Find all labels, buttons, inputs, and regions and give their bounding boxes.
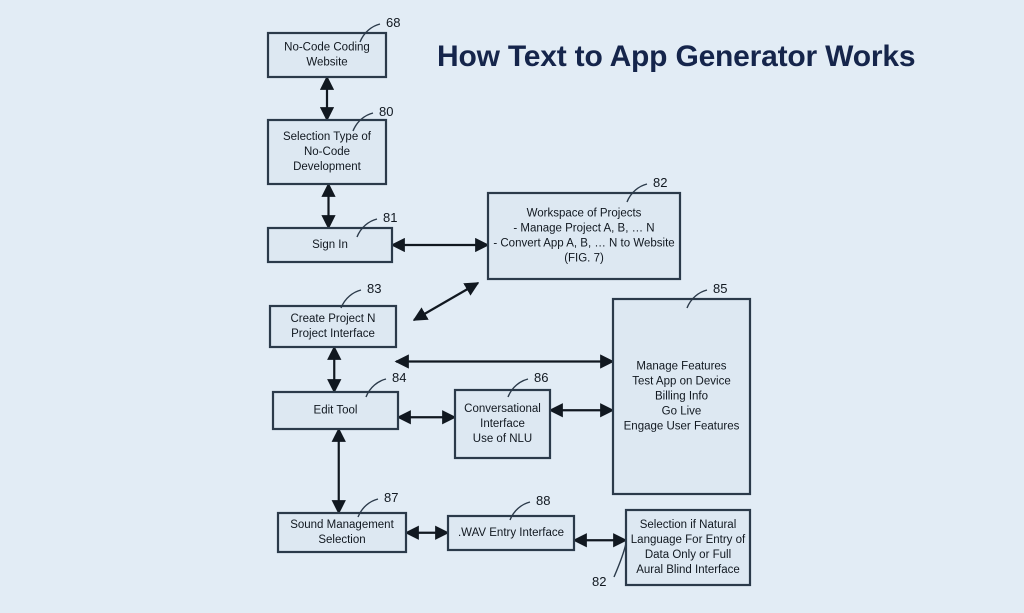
node-label-line: Language For Entry of [631, 534, 746, 546]
reference-number: 82 [592, 574, 606, 589]
node-label-line: Sign In [312, 239, 348, 251]
flow-node-81[interactable]: Sign In [268, 228, 392, 262]
node-label-line: Selection if Natural [640, 519, 737, 531]
node-label-line: Create Project N [290, 313, 375, 325]
flow-node-68[interactable]: No-Code CodingWebsite [268, 33, 386, 77]
reference-number: 82 [653, 175, 667, 190]
flowchart-svg: No-Code CodingWebsiteSelection Type ofNo… [0, 0, 1024, 613]
flow-node-83[interactable]: Create Project NProject Interface [270, 306, 396, 347]
node-label-line: Billing Info [655, 391, 708, 403]
reference-number: 87 [384, 490, 398, 505]
flow-node-85[interactable]: Manage FeaturesTest App on DeviceBilling… [613, 299, 750, 494]
node-label-line: No-Code [304, 146, 350, 158]
reference-number: 80 [379, 104, 393, 119]
leader-line [614, 543, 626, 577]
node-label-line: Selection [318, 534, 365, 546]
flow-node-82[interactable]: Selection if NaturalLanguage For Entry o… [626, 510, 750, 585]
reference-label-83-4: 83 [341, 281, 381, 308]
flow-node-80[interactable]: Selection Type ofNo-CodeDevelopment [268, 120, 386, 184]
flow-node-82[interactable]: Workspace of Projects- Manage Project A,… [488, 193, 680, 279]
node-box [268, 33, 386, 77]
node-label-line: Go Live [662, 406, 702, 418]
node-label-line: Test App on Device [632, 376, 730, 388]
flow-node-88[interactable]: .WAV Entry Interface [448, 516, 574, 550]
flow-node-84[interactable]: Edit Tool [273, 392, 398, 429]
node-box [488, 193, 680, 279]
node-label-line: Edit Tool [314, 405, 358, 417]
node-label-line: - Convert App A, B, … N to Website [493, 238, 674, 250]
node-label-line: Project Interface [291, 328, 375, 340]
diagram-canvas: How Text to App Generator Works No-Code … [0, 0, 1024, 613]
reference-number: 83 [367, 281, 381, 296]
node-label-line: Interface [480, 418, 525, 430]
node-label-line: (FIG. 7) [564, 253, 604, 265]
node-label-line: Website [306, 57, 347, 69]
node-label-line: Use of NLU [473, 433, 532, 445]
reference-number: 84 [392, 370, 406, 385]
reference-number: 68 [386, 15, 400, 30]
node-label-line: Sound Management [290, 519, 394, 531]
flow-node-86[interactable]: ConversationalInterfaceUse of NLU [455, 390, 550, 458]
reference-number: 85 [713, 281, 727, 296]
node-label-line: Manage Features [636, 361, 726, 373]
node-label-line: Selection Type of [283, 131, 372, 143]
node-label-line: Aural Blind Interface [636, 564, 740, 576]
connector-83-to-82 [414, 283, 478, 320]
node-layer: No-Code CodingWebsiteSelection Type ofNo… [268, 33, 750, 585]
node-label-line: No-Code Coding [284, 42, 370, 54]
reference-number: 86 [534, 370, 548, 385]
reference-number: 88 [536, 493, 550, 508]
node-label-line: Engage User Features [624, 421, 740, 433]
reference-number: 81 [383, 210, 397, 225]
node-label-line: Conversational [464, 403, 541, 415]
node-label-line: - Manage Project A, B, … N [513, 223, 654, 235]
node-label-line: Development [293, 161, 362, 173]
node-label-line: Workspace of Projects [527, 208, 642, 220]
reference-label-82-10: 82 [592, 543, 626, 589]
node-label-line: Data Only or Full [645, 549, 731, 561]
flow-node-87[interactable]: Sound ManagementSelection [278, 513, 406, 552]
node-label-line: .WAV Entry Interface [458, 527, 564, 539]
